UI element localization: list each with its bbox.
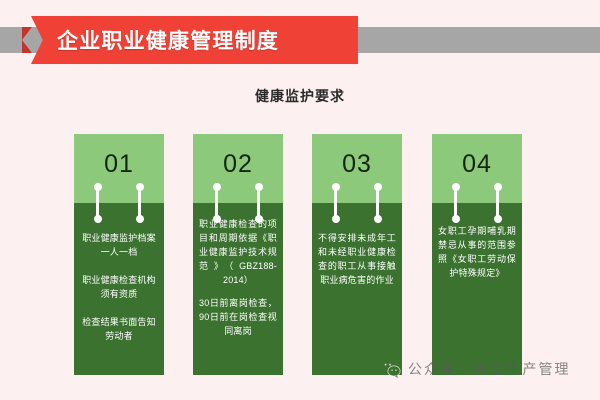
ribbon-fold-left xyxy=(22,27,32,53)
card-number: 02 xyxy=(193,150,283,179)
section-subtitle: 健康监护要求 xyxy=(0,86,600,106)
card-row: 01 职业健康监护档案一人一档 职业健康检查机构须有资质 检查结果书面告知劳动者… xyxy=(74,134,532,375)
page-title: 企业职业健康管理制度 xyxy=(57,25,279,55)
card-paragraph: 30日前离岗检查，90日前在岗检查视同离岗 xyxy=(199,296,277,338)
card-body: 职业健康检查的项目和周期依据《职业健康监护技术规范》（GBZ188-2014） … xyxy=(193,203,283,375)
header-banner: 企业职业健康管理制度 xyxy=(0,16,600,64)
card-number: 01 xyxy=(74,150,164,179)
card-paragraph: 职业健康监护档案一人一档 xyxy=(80,231,158,259)
card-paragraph: 不得安排未成年工和未经职业健康检查的职工从事接触职业病危害的作业 xyxy=(318,231,396,287)
slide-canvas: 企业职业健康管理制度 健康监护要求 01 职业健康监护档案一人一档 职业健康检查… xyxy=(0,0,600,400)
info-card-03: 03 不得安排未成年工和未经职业健康检查的职工从事接触职业病危害的作业 xyxy=(312,134,402,375)
info-card-02: 02 职业健康检查的项目和周期依据《职业健康监护技术规范》（GBZ188-201… xyxy=(193,134,283,375)
card-body: 不得安排未成年工和未经职业健康检查的职工从事接触职业病危害的作业 xyxy=(312,203,402,375)
card-paragraph: 职业健康检查的项目和周期依据《职业健康监护技术规范》（GBZ188-2014） xyxy=(199,217,277,287)
card-number: 03 xyxy=(312,150,402,179)
card-body: 职业健康监护档案一人一档 职业健康检查机构须有资质 检查结果书面告知劳动者 xyxy=(74,203,164,375)
info-card-04: 04 女职工孕期哺乳期禁忌从事的范围参照《女职工劳动保护特殊规定》 xyxy=(432,134,522,375)
card-body: 女职工孕期哺乳期禁忌从事的范围参照《女职工劳动保护特殊规定》 xyxy=(432,203,522,375)
ribbon-shape: 企业职业健康管理制度 xyxy=(31,16,358,64)
card-paragraph: 检查结果书面告知劳动者 xyxy=(80,315,158,343)
card-number: 04 xyxy=(432,150,522,179)
info-card-01: 01 职业健康监护档案一人一档 职业健康检查机构须有资质 检查结果书面告知劳动者 xyxy=(74,134,164,375)
card-paragraph: 女职工孕期哺乳期禁忌从事的范围参照《女职工劳动保护特殊规定》 xyxy=(438,224,516,280)
card-paragraph: 职业健康检查机构须有资质 xyxy=(80,273,158,301)
